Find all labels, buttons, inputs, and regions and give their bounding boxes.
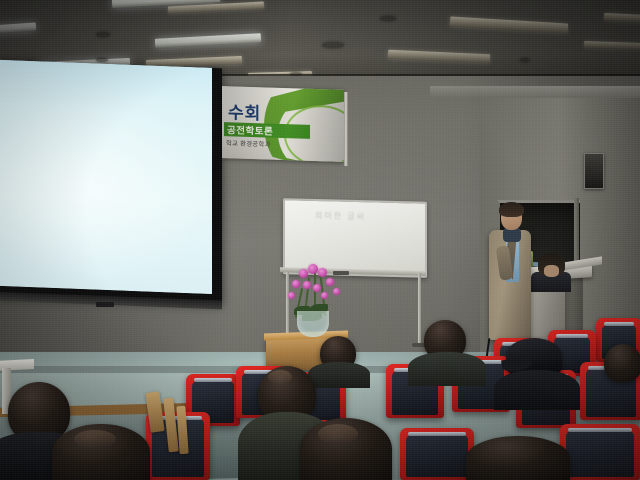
wall-soffit [430, 86, 640, 98]
whiteboard-leg [418, 273, 421, 343]
slide-table-cell: 114개 학교 [74, 250, 105, 262]
slide-table-cell: 315개 학교 [76, 226, 107, 238]
audience-head [52, 424, 150, 480]
seat-cushion [566, 431, 634, 477]
slide-table-cell: 1,000,000원 [27, 236, 62, 248]
whiteboard-leg [286, 272, 289, 342]
slide-table-cell: 600,000원 [29, 248, 59, 260]
orchid-bloom [321, 292, 328, 299]
orchid-bloom [326, 278, 334, 286]
projection-screen: 아리 설립 목적 행해고 전공 인 구가 산초대처 위해 대학원에 진초하는 학… [0, 60, 222, 305]
ceiling-light [112, 0, 220, 8]
banner-footer: 학교 환경공학과 [226, 138, 271, 148]
orchid-vase [297, 311, 329, 337]
seat [560, 424, 640, 480]
ceiling-light [584, 41, 640, 50]
seat-cushion [406, 435, 468, 477]
presenter-scarf [503, 228, 521, 242]
seat-chrome-trim [408, 432, 466, 436]
orchid-bloom [299, 269, 308, 278]
audience-shoulders [308, 362, 370, 388]
slide-table-cell: 145개 학교 [76, 238, 107, 250]
banner-subheading: 공전학토론 [224, 122, 273, 138]
seat-chrome-trim [568, 428, 632, 432]
ceiling-vent [520, 58, 530, 62]
presenter-hair [499, 202, 524, 217]
seat-chrome-trim [604, 322, 634, 326]
orchid-bloom [303, 281, 311, 289]
ceiling-vent [96, 58, 108, 62]
banner-support-pole [344, 92, 348, 166]
ceiling-light [0, 22, 36, 33]
orchid-bloom [313, 284, 321, 292]
orchid-bloom [292, 280, 300, 288]
seat [400, 428, 474, 480]
ceiling-vent [96, 32, 110, 37]
ceiling-light [168, 1, 264, 13]
orchid-bloom [318, 268, 327, 277]
audience-shoulders [494, 370, 580, 410]
audience-head [466, 436, 570, 480]
wall-speaker-icon [584, 153, 604, 189]
lecture-hall-photo: 아리 설립 목적 행해고 전공 인 구가 산초대처 위해 대학원에 진초하는 학… [0, 0, 640, 480]
ceiling-vent [322, 42, 344, 48]
orchid-bloom [333, 288, 340, 295]
banner-subheading-bar: 공전학토론 [224, 122, 310, 139]
seat-chrome-trim [556, 334, 588, 338]
slide-table: 1,400,000원 20% 315개 학교 1,000,000원 60% 14… [0, 222, 134, 264]
audience-head [604, 344, 640, 382]
banner-heading: 수회 [228, 98, 261, 124]
hair-highlight [268, 370, 292, 384]
slide-body-text: 행해고 전공 인 구가 산초대처 위해 대학원에 진초하는 학생 하고는 대부분… [0, 129, 212, 187]
ceiling-light [388, 50, 490, 64]
wall-banner: 수회 공전학토론 학교 환경공학과 [222, 86, 344, 162]
audience-shoulders [408, 352, 486, 386]
ceiling-light [155, 33, 261, 48]
ceiling-vent [380, 16, 396, 21]
slide-table-cell: 20% [62, 225, 76, 237]
projection-screen-surface: 아리 설립 목적 행해고 전공 인 구가 산초대처 위해 대학원에 진초하는 학… [0, 60, 212, 294]
whiteboard-eraser [333, 271, 349, 275]
seated-person-face [544, 265, 559, 277]
orchid-bloom [308, 264, 318, 274]
slide-table-cell: 20% [60, 249, 74, 261]
slide-table-cell: 60% [62, 237, 76, 249]
audience-head [300, 418, 392, 480]
slide-table-cell: 1,400,000원 [27, 224, 62, 236]
seat-chrome-trim [194, 378, 232, 382]
hair-highlight [318, 424, 358, 444]
projection-screen-pull-knob [96, 302, 114, 307]
ceiling-light [604, 13, 640, 23]
hair-highlight [74, 430, 116, 448]
ceiling-light [450, 16, 568, 33]
whiteboard-writing: 희미한 글씨 [315, 210, 366, 222]
whiteboard: 희미한 글씨 [283, 198, 427, 278]
orchid-bloom [288, 292, 295, 299]
